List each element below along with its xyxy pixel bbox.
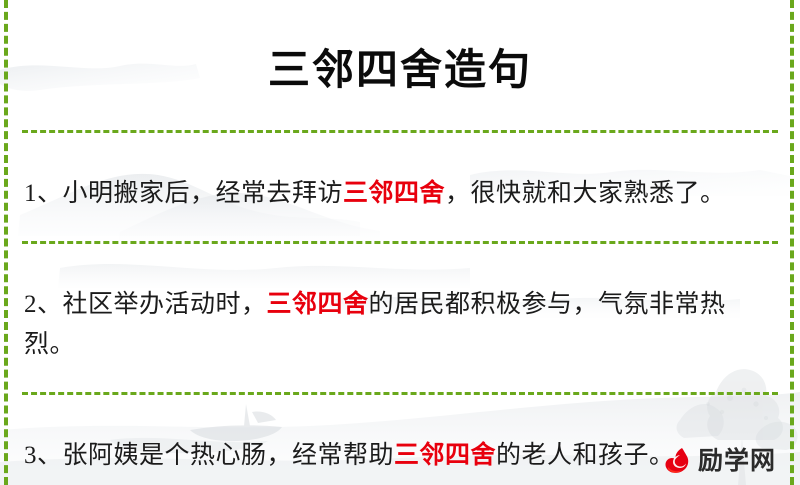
red-flame-swirl-logo-icon — [660, 445, 692, 477]
sentence-3-after: 的老人和孩子。 — [496, 442, 675, 469]
right-dashed-border — [790, 0, 794, 485]
slide-canvas: 三邻四舍造句 1、小明搬家后，经常去拜访三邻四舍，很快就和大家熟悉了。 2、社区… — [0, 0, 800, 485]
sentence-3-highlight: 三邻四舍 — [394, 442, 496, 469]
divider-after-sentence-2 — [22, 392, 778, 395]
sentence-1-highlight: 三邻四舍 — [343, 180, 445, 207]
divider-top — [22, 130, 778, 133]
sentence-2-highlight: 三邻四舍 — [267, 291, 369, 318]
left-dashed-border — [4, 0, 8, 485]
sentence-1-before: 小明搬家后，经常去拜访 — [63, 180, 344, 207]
content-column: 三邻四舍造句 1、小明搬家后，经常去拜访三邻四舍，很快就和大家熟悉了。 2、社区… — [22, 0, 778, 485]
sentence-1-index: 1、 — [24, 180, 63, 207]
sentence-2-before: 社区举办活动时， — [63, 291, 267, 318]
brand-watermark: 励学网 — [660, 445, 776, 477]
sentence-1-after: ，很快就和大家熟悉了。 — [445, 180, 726, 207]
sentence-2-index: 2、 — [24, 291, 63, 318]
sentence-item-2: 2、社区举办活动时，三邻四舍的居民都积极参与，气氛非常热烈。 — [22, 269, 778, 367]
sentence-3-index: 3、 — [24, 442, 63, 469]
sentence-3-before: 张阿姨是个热心肠，经常帮助 — [63, 442, 395, 469]
divider-after-sentence-1 — [22, 241, 778, 244]
page-title: 三邻四舍造句 — [22, 28, 778, 100]
sentence-item-1: 1、小明搬家后，经常去拜访三邻四舍，很快就和大家熟悉了。 — [22, 158, 778, 216]
brand-name-label: 励学网 — [698, 449, 776, 474]
